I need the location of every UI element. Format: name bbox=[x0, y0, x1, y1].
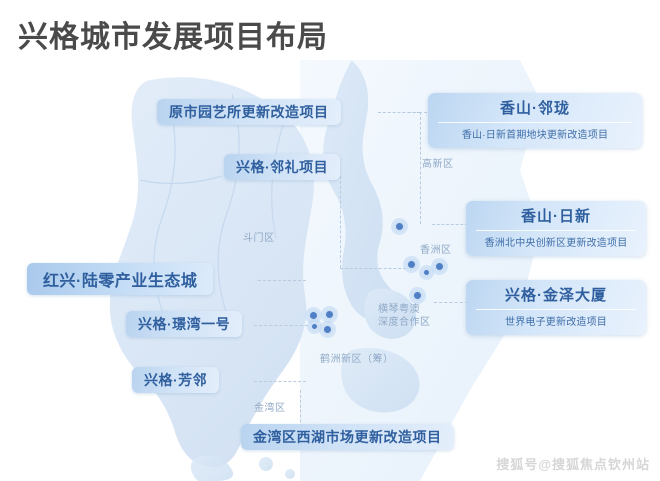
connector-fanglin bbox=[254, 381, 306, 382]
district-xiangzhou: 香洲区 bbox=[420, 244, 452, 258]
watermark: 搜狐号@搜狐焦点钦州站 bbox=[496, 454, 650, 473]
connector-hongxing bbox=[258, 280, 306, 281]
map-canvas: 高新区 香洲区 斗门区 横琴粤澳 深度合作区 鹤洲新区（筹） 金湾区 原市园艺所… bbox=[0, 60, 660, 481]
watermark-ghost: 搜狐号@搜狐焦点钦州站 bbox=[496, 457, 650, 472]
connector-jingwan bbox=[254, 325, 308, 326]
map-marker-9[interactable] bbox=[322, 324, 333, 335]
card-title: 香山·邻珑 bbox=[438, 99, 632, 119]
card-xiangshan-rixin[interactable]: 香山·日新 香洲北中央创新区更新改造项目 bbox=[466, 201, 646, 256]
map-marker-6[interactable] bbox=[308, 310, 319, 321]
page-title: 兴格城市发展项目布局 bbox=[18, 12, 328, 56]
card-subtitle: 香洲北中央创新区更新改造项目 bbox=[476, 230, 636, 249]
district-jinwan: 金湾区 bbox=[254, 402, 286, 416]
card-subtitle: 香山·日新首期地块更新改造项目 bbox=[438, 122, 632, 141]
connector-xiangshan-rixin bbox=[432, 224, 468, 225]
district-hengqin-line2: 深度合作区 bbox=[378, 316, 431, 331]
card-title: 香山·日新 bbox=[476, 207, 636, 227]
label-xingge-jingwan[interactable]: 兴格·璟湾一号 bbox=[126, 311, 242, 337]
card-subtitle: 世界电子更新改造项目 bbox=[476, 309, 636, 328]
connector-jinze bbox=[434, 302, 468, 303]
map-marker-5[interactable] bbox=[412, 290, 423, 301]
label-xingge-linli[interactable]: 兴格·邻礼项目 bbox=[224, 154, 340, 180]
card-xiangshan-linlong[interactable]: 香山·邻珑 香山·日新首期地块更新改造项目 bbox=[428, 93, 642, 148]
district-gaoxin: 高新区 bbox=[422, 158, 454, 172]
card-title: 兴格·金泽大厦 bbox=[476, 286, 636, 306]
label-jinwan-xihu[interactable]: 金湾区西湖市场更新改造项目 bbox=[241, 424, 454, 450]
connector-linli-down bbox=[340, 176, 341, 268]
connector-yuanyisuo-down bbox=[420, 112, 421, 224]
card-xingge-jinze[interactable]: 兴格·金泽大厦 世界电子更新改造项目 bbox=[466, 280, 646, 335]
map-marker-1[interactable] bbox=[394, 221, 405, 232]
map-marker-4[interactable] bbox=[434, 261, 445, 272]
map-marker-8[interactable] bbox=[310, 322, 319, 331]
label-yuanshi-yuanyisuo[interactable]: 原市园艺所更新改造项目 bbox=[157, 99, 341, 125]
connector-linli bbox=[340, 268, 406, 269]
district-hezhou: 鹤洲新区（筹） bbox=[320, 353, 394, 367]
district-doumen: 斗门区 bbox=[243, 232, 275, 246]
label-xingge-fanglin[interactable]: 兴格·芳邻 bbox=[132, 367, 219, 393]
map-marker-7[interactable] bbox=[324, 309, 335, 320]
label-hongxing-luling[interactable]: 红兴·陆零产业生态城 bbox=[27, 263, 213, 295]
map-marker-3[interactable] bbox=[422, 268, 431, 277]
map-marker-2[interactable] bbox=[406, 259, 417, 270]
